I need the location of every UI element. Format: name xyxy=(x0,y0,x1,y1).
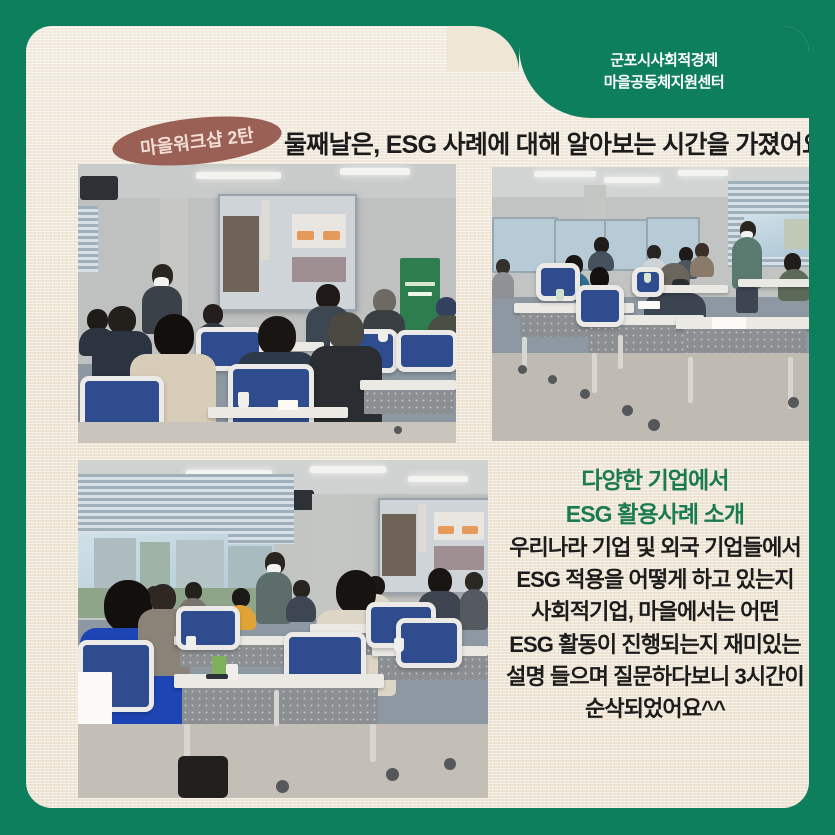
body-line-3: ESG 적용을 어떻게 하고 있는지 xyxy=(496,564,809,596)
headline: 둘째날은, ESG 사례에 대해 알아보는 시간을 가졌어요 xyxy=(284,125,809,161)
photo-lecture-front xyxy=(78,164,456,443)
photo-lecture-front-scene xyxy=(78,164,456,443)
body-text: 다양한 기업에서 ESG 활용사례 소개 우리나라 기업 및 외국 기업들에서 … xyxy=(496,464,809,726)
body-line-4: 사회적기업, 마을에서는 어떤 xyxy=(496,596,809,628)
photo-seminar-side xyxy=(492,167,809,441)
photo-classroom-wide xyxy=(78,460,488,798)
cream-panel: 군포시사회적경제 마을공동체지원센터 마을워크샵 2탄 둘째날은, ESG 사례… xyxy=(26,26,809,808)
org-name-line2: 마을공동체지원센터 xyxy=(604,74,725,93)
body-line-5: ESG 활동이 진행되는지 재미있는 xyxy=(496,629,809,661)
body-line-1: ESG 활용사례 소개 xyxy=(496,498,809,532)
body-line-7: 순삭되었어요^^ xyxy=(496,693,809,725)
photo-classroom-wide-scene xyxy=(78,460,488,798)
header-blob-tail xyxy=(447,26,519,72)
card-root: 군포시사회적경제 마을공동체지원센터 마을워크샵 2탄 둘째날은, ESG 사례… xyxy=(0,0,835,835)
body-line-2: 우리나라 기업 및 외국 기업들에서 xyxy=(496,532,809,564)
workshop-badge: 마을워크샵 2탄 xyxy=(112,118,282,164)
org-name-line1: 군포시사회적경제 xyxy=(610,52,717,71)
photo-seminar-side-scene xyxy=(492,167,809,441)
org-name: 군포시사회적경제 마을공동체지원센터 xyxy=(519,26,809,118)
body-line-0: 다양한 기업에서 xyxy=(496,464,809,498)
body-line-6: 설명 들으며 질문하다보니 3시간이 xyxy=(496,661,809,693)
